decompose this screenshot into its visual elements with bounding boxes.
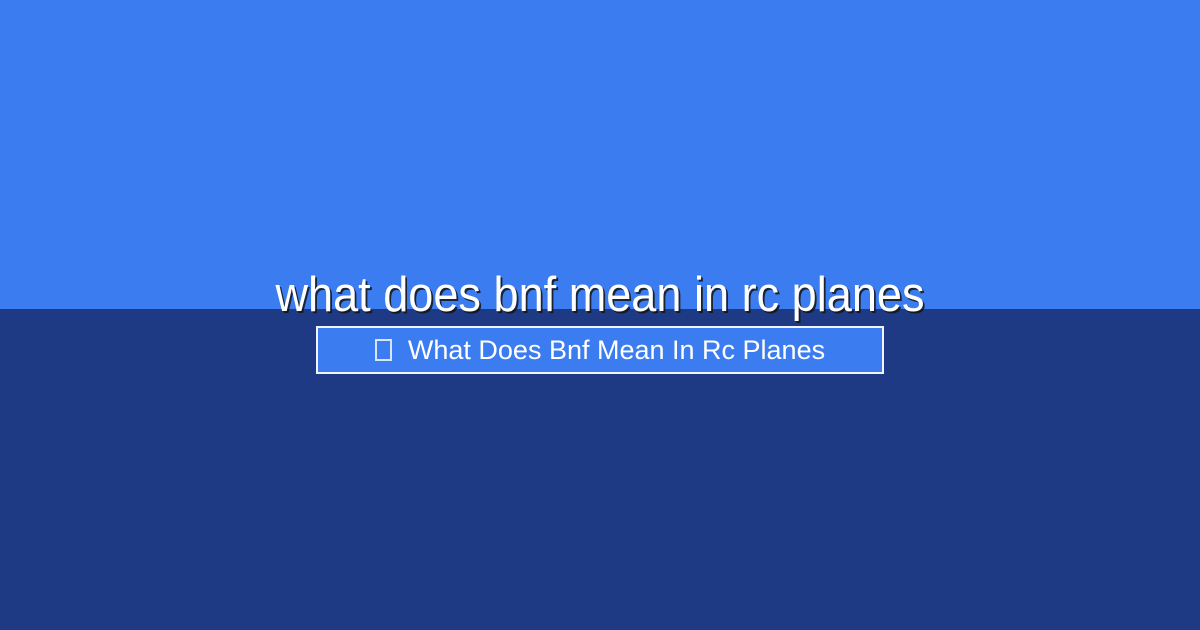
- cta-button-label: What Does Bnf Mean In Rc Planes: [408, 335, 825, 365]
- page-title: what does bnf mean in rc planes: [48, 265, 1152, 325]
- top-color-band: [0, 0, 1200, 309]
- cta-button[interactable]: What Does Bnf Mean In Rc Planes: [316, 326, 884, 374]
- missing-glyph-box-icon: [375, 339, 392, 361]
- page-root: what does bnf mean in rc planes What Doe…: [0, 0, 1200, 630]
